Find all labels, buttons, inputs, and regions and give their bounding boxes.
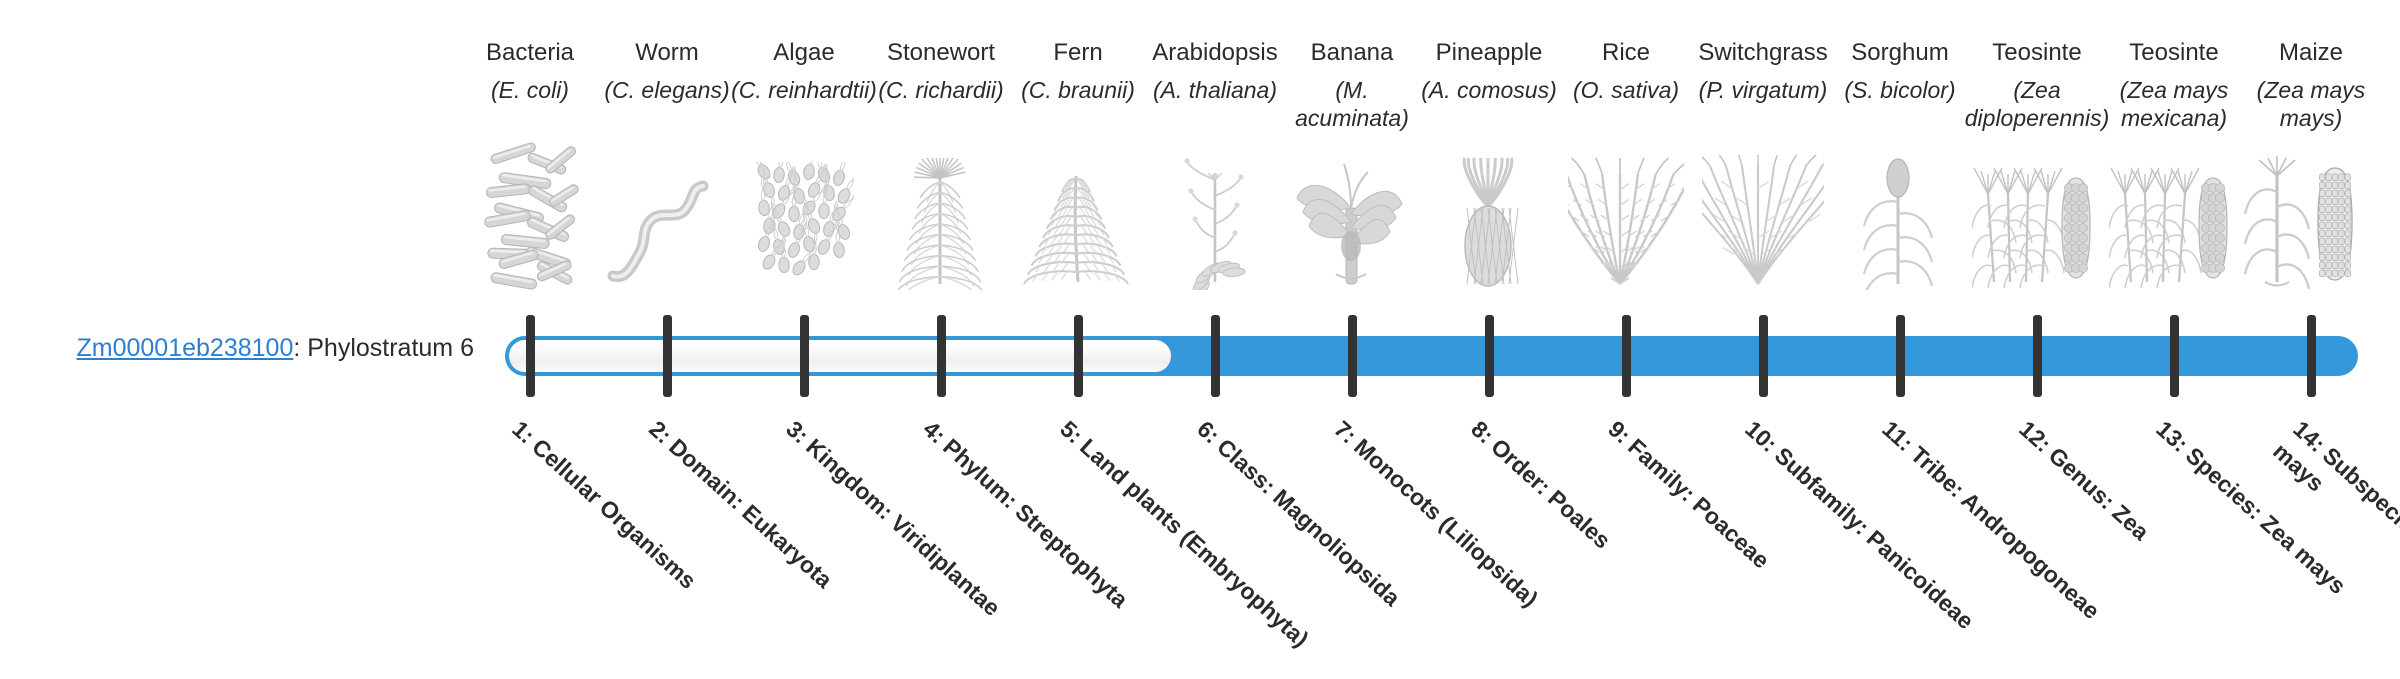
green-algae-icon [729, 172, 879, 290]
tick-mark [1211, 315, 1220, 397]
tick-mark [1348, 315, 1357, 397]
phylostratum-text: : Phylostratum 6 [293, 334, 474, 362]
tick-mark [800, 315, 809, 397]
species-column: Worm (C. elegans) [592, 0, 742, 104]
species-column: Teosinte (Zea mays mexicana) [2099, 0, 2249, 132]
tick-mark [2033, 315, 2042, 397]
tick-mark [1622, 315, 1631, 397]
sorghum-icon [1825, 172, 1975, 290]
species-common-name: Worm [592, 0, 742, 68]
pineapple-icon [1414, 172, 1564, 290]
taxonomy-level-label: 9: Family: Poaceae [1602, 414, 1867, 657]
species-column: Bacteria (E. coli) [455, 0, 605, 104]
teosinte-mexicana-icon [2099, 172, 2249, 290]
species-common-name: Banana [1277, 0, 1427, 68]
tick-mark [2307, 315, 2316, 397]
tick-mark [1896, 315, 1905, 397]
taxonomy-level-label: 11: Tribe: Andropogoneae [1876, 414, 2141, 657]
tick-mark [2170, 315, 2179, 397]
species-column: Switchgrass (P. virgatum) [1688, 0, 1838, 104]
species-common-name: Rice [1551, 0, 1701, 68]
species-column: Maize (Zea mays mays) [2236, 0, 2386, 132]
tick-mark [1485, 315, 1494, 397]
teosinte-icon [1962, 172, 2112, 290]
species-latin-name: (A. comosus) [1414, 68, 1564, 104]
species-common-name: Bacteria [455, 0, 605, 68]
gene-id-link[interactable]: Zm00001eb238100 [77, 334, 294, 362]
taxonomy-level-label: 1: Cellular Organisms [506, 414, 771, 657]
taxonomy-level-label: 2: Domain: Eukaryota [643, 414, 908, 657]
taxonomy-level-label: 4: Phylum: Streptophyta [917, 414, 1182, 657]
taxonomy-level-label: 5: Land plants (Embryophyta) [1054, 414, 1319, 657]
species-common-name: Switchgrass [1688, 0, 1838, 68]
arabidopsis-icon [1140, 172, 1290, 290]
taxonomy-level-label: 10: Subfamily: Panicoideae [1739, 414, 2004, 657]
species-column: Rice (O. sativa) [1551, 0, 1701, 104]
switchgrass-icon [1688, 172, 1838, 290]
species-column: Algae (C. reinhardtii) [729, 0, 879, 104]
species-latin-name: (O. sativa) [1551, 68, 1701, 104]
species-common-name: Teosinte [1962, 0, 2112, 68]
bacteria-icon [455, 172, 605, 290]
phylostratum-timeline: Zm00001eb238100: Phylostratum 6 Bacteria… [0, 0, 2400, 580]
species-column: Sorghum (S. bicolor) [1825, 0, 1975, 104]
species-common-name: Pineapple [1414, 0, 1564, 68]
tick-mark [937, 315, 946, 397]
species-common-name: Sorghum [1825, 0, 1975, 68]
taxonomy-level-label: 12: Genus: Zea [2013, 414, 2278, 657]
fern-icon [1003, 172, 1153, 290]
taxonomy-level-label: 3: Kingdom: Viridiplantae [780, 414, 1045, 657]
species-latin-name: (C. braunii) [1003, 68, 1153, 104]
banana-plant-icon [1277, 172, 1427, 290]
gene-row-label: Zm00001eb238100: Phylostratum 6 [24, 333, 474, 363]
species-latin-name: (C. elegans) [592, 68, 742, 104]
species-column: Stonewort (C. richardii) [866, 0, 1016, 104]
rice-plant-icon [1551, 172, 1701, 290]
species-latin-name: (P. virgatum) [1688, 68, 1838, 104]
species-common-name: Maize [2236, 0, 2386, 68]
species-latin-name: (Zea mays mays) [2236, 68, 2386, 132]
species-latin-name: (E. coli) [455, 68, 605, 104]
species-column: Banana (M. acuminata) [1277, 0, 1427, 132]
species-column: Teosinte (Zea diploperennis) [1962, 0, 2112, 132]
species-latin-name: (Zea mays mexicana) [2099, 68, 2249, 132]
species-common-name: Teosinte [2099, 0, 2249, 68]
maize-icon [2236, 172, 2386, 290]
taxonomy-level-label: 7: Monocots (Liliopsida) [1328, 414, 1593, 657]
species-latin-name: (M. acuminata) [1277, 68, 1427, 132]
species-common-name: Fern [1003, 0, 1153, 68]
species-common-name: Stonewort [866, 0, 1016, 68]
tick-mark [1759, 315, 1768, 397]
species-latin-name: (S. bicolor) [1825, 68, 1975, 104]
species-latin-name: (C. richardii) [866, 68, 1016, 104]
nematode-worm-icon [592, 172, 742, 290]
tick-mark [663, 315, 672, 397]
species-common-name: Algae [729, 0, 879, 68]
species-column: Fern (C. braunii) [1003, 0, 1153, 104]
stonewort-icon [866, 172, 1016, 290]
phylostratum-progress-bar[interactable] [505, 336, 2358, 376]
tick-mark [526, 315, 535, 397]
taxonomy-level-label: 6: Class: Magnoliopsida [1191, 414, 1456, 657]
species-latin-name: (A. thaliana) [1140, 68, 1290, 104]
species-column: Arabidopsis (A. thaliana) [1140, 0, 1290, 104]
species-latin-name: (Zea diploperennis) [1962, 68, 2112, 132]
tick-mark [1074, 315, 1083, 397]
species-common-name: Arabidopsis [1140, 0, 1290, 68]
species-latin-name: (C. reinhardtii) [729, 68, 879, 104]
species-column: Pineapple (A. comosus) [1414, 0, 1564, 104]
taxonomy-level-label: 8: Order: Poales [1465, 414, 1730, 657]
